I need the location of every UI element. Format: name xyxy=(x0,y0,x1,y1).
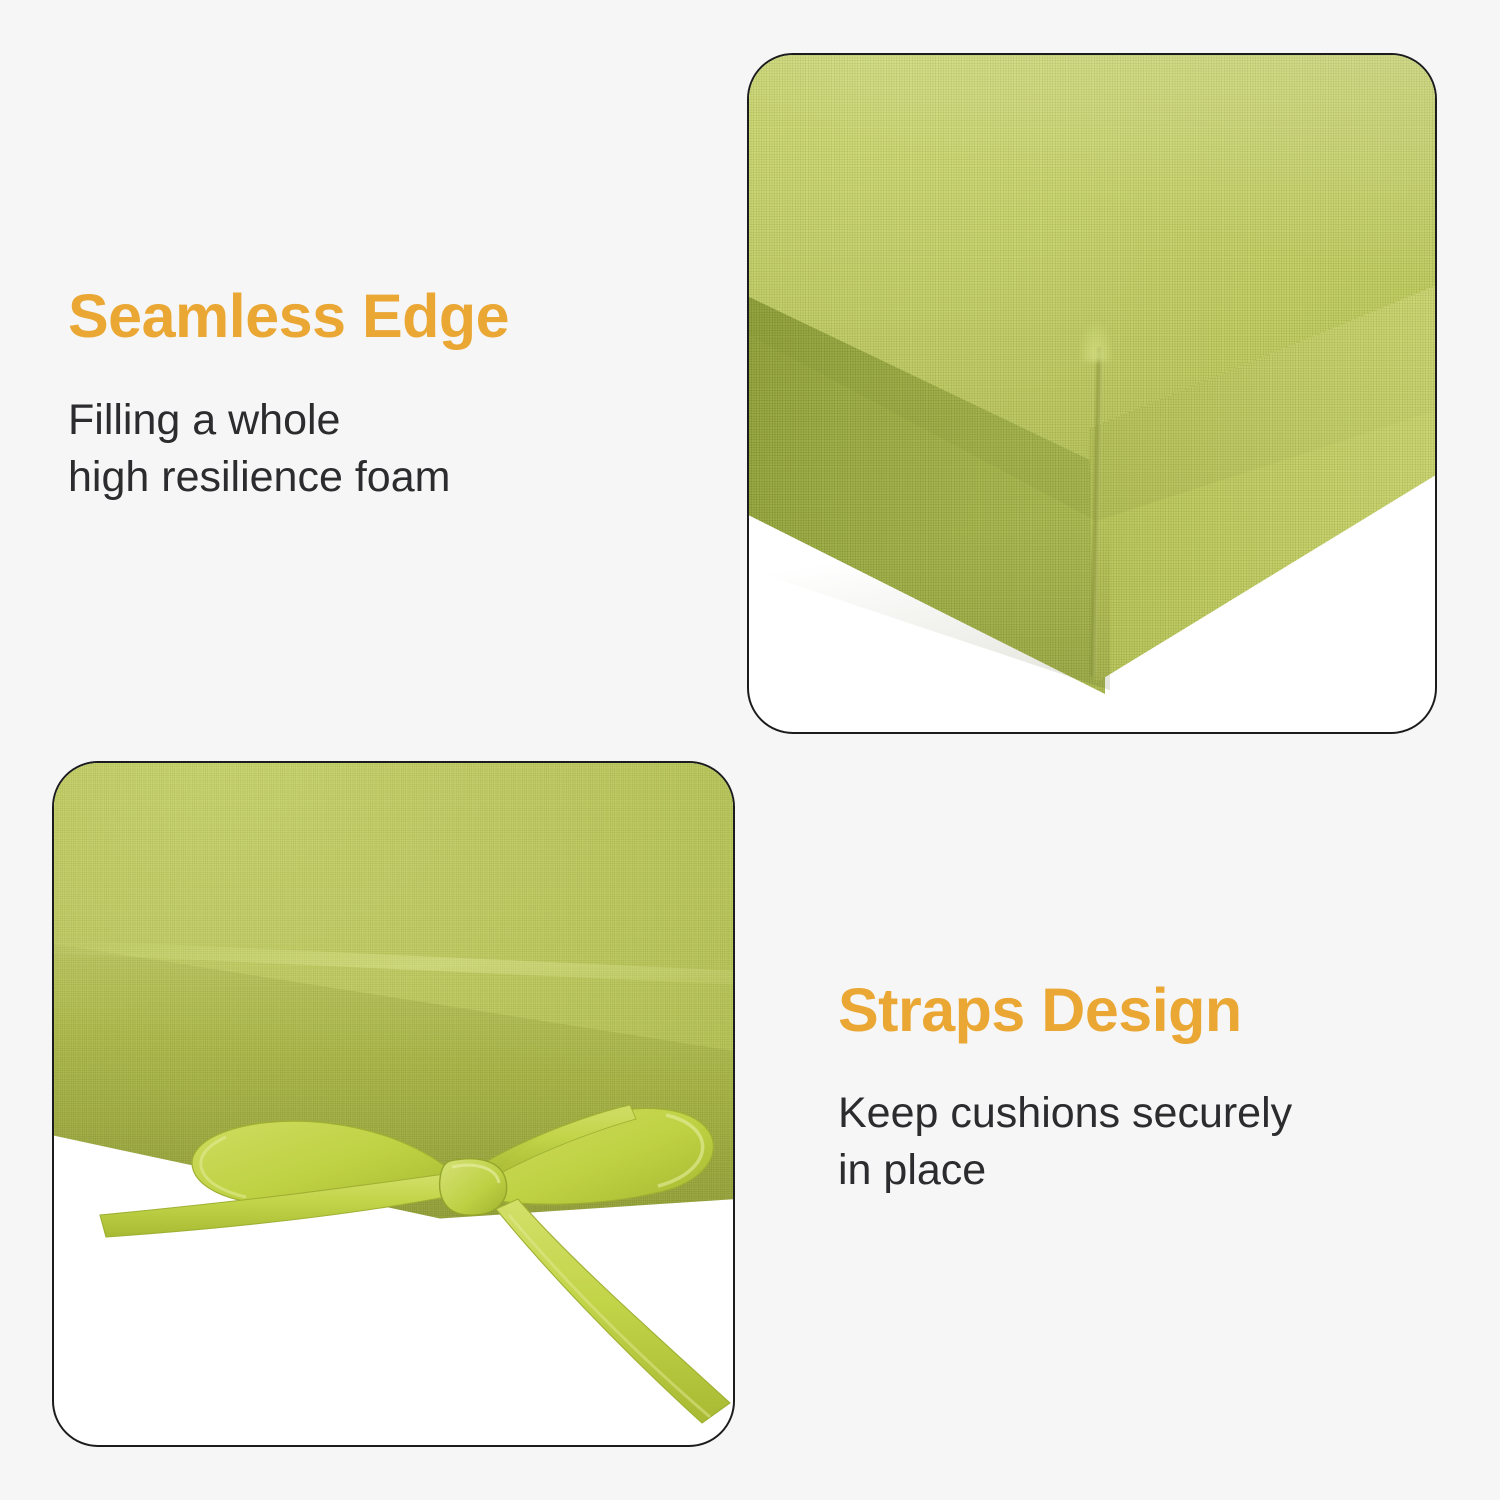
feature-description-line: in place xyxy=(838,1142,1292,1199)
feature-description-seamless-edge: Filling a whole high resilience foam xyxy=(68,392,509,506)
infographic-canvas: Seamless Edge Filling a whole high resil… xyxy=(0,0,1500,1500)
feature-description-line: Keep cushions securely xyxy=(838,1085,1292,1142)
strap-bow-graphic xyxy=(54,763,735,1447)
product-photo-panel-seamless-edge xyxy=(747,53,1437,734)
feature-description-line: Filling a whole xyxy=(68,392,509,449)
cushion-corner-photo xyxy=(749,55,1435,732)
feature-block-straps-design: Straps Design Keep cushions securely in … xyxy=(838,980,1292,1199)
feature-title-seamless-edge: Seamless Edge xyxy=(68,286,509,347)
strap-knot xyxy=(440,1159,507,1215)
feature-description-straps-design: Keep cushions securely in place xyxy=(838,1085,1292,1199)
feature-block-seamless-edge: Seamless Edge Filling a whole high resil… xyxy=(68,286,509,506)
feature-title-straps-design: Straps Design xyxy=(838,980,1292,1041)
cushion-strap-photo xyxy=(54,763,733,1445)
strap-right-tail xyxy=(496,1199,730,1423)
cushion-corner-highlight xyxy=(1081,301,1111,361)
product-photo-panel-straps-design xyxy=(52,761,735,1447)
feature-description-line: high resilience foam xyxy=(68,449,509,506)
